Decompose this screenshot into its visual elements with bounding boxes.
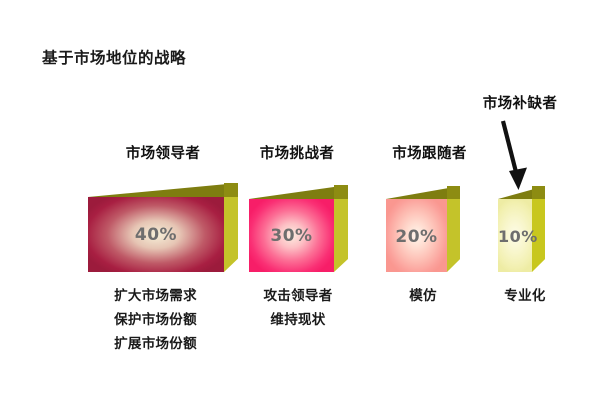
bar-market-leader[interactable]: 40%	[88, 183, 238, 272]
slide-canvas: 基于市场地位的战略 市场领导者 市场挑战者 市场跟随者 市场补缺者 40% 30…	[0, 0, 600, 413]
bar-top-face	[88, 183, 238, 197]
bar-description: 保护市场份额	[73, 308, 238, 328]
bar-side-face	[447, 186, 460, 272]
bar-value-label: 20%	[386, 227, 447, 247]
bar-value-label: 10%	[498, 227, 532, 246]
bar-description: 模仿	[383, 284, 463, 304]
bar-description: 攻击领导者	[238, 284, 358, 304]
bar-side-face	[334, 185, 348, 272]
bar-market-challenger[interactable]: 30%	[249, 185, 348, 272]
bar-market-nicher[interactable]: 10%	[498, 186, 545, 272]
bar-side-face	[224, 183, 238, 272]
bar-description: 扩大市场需求	[73, 284, 238, 304]
bar-description: 专业化	[485, 284, 565, 304]
category-label-market-challenger: 市场挑战者	[237, 142, 357, 163]
category-label-market-leader: 市场领导者	[88, 142, 238, 163]
bar-value-label: 30%	[249, 226, 334, 246]
bar-top-face	[249, 185, 348, 199]
bar-description: 维持现状	[238, 308, 358, 328]
bar-description: 扩展市场份额	[73, 332, 238, 352]
page-title: 基于市场地位的战略	[42, 46, 186, 68]
bar-value-label: 40%	[88, 225, 224, 245]
bar-market-follower[interactable]: 20%	[386, 186, 460, 272]
